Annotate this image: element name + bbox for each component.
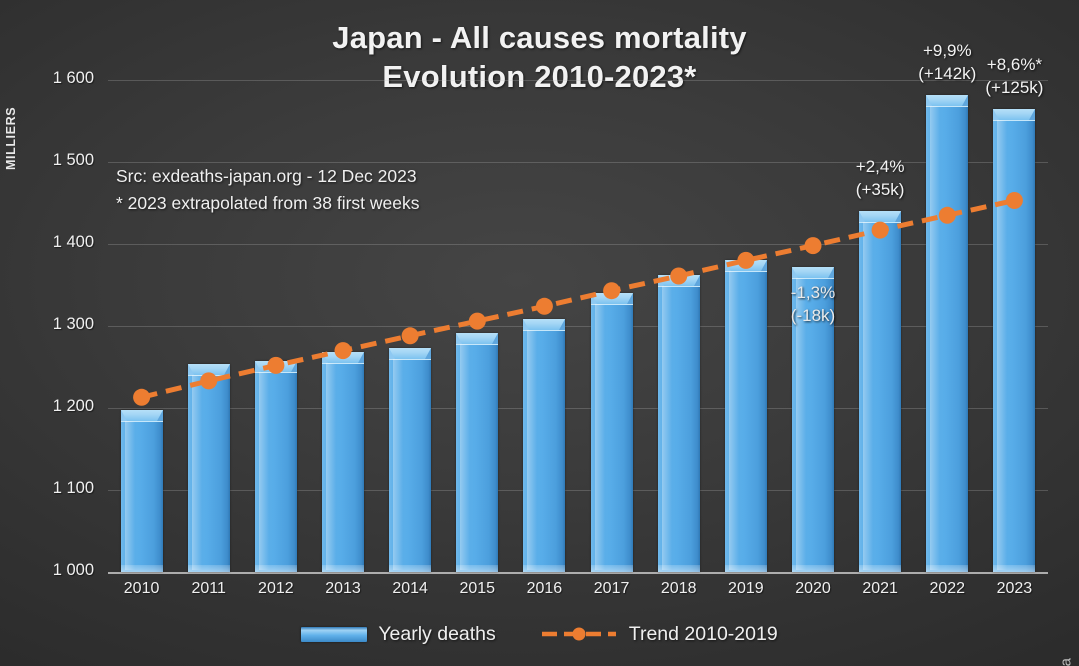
bar-2013[interactable] [322, 352, 364, 572]
bar-foot [926, 565, 968, 572]
bar-2014[interactable] [389, 348, 431, 572]
bar-cap-left [255, 361, 261, 372]
bar-foot [456, 565, 498, 572]
bar-foot [389, 565, 431, 572]
bar-cap-right [559, 319, 565, 330]
annotation-2021: +2,4%(+35k) [825, 155, 935, 201]
x-tick-label-2012: 2012 [242, 580, 309, 598]
legend-label-yearly-deaths: Yearly deaths [378, 623, 495, 646]
trend-marker-2014[interactable] [402, 327, 419, 344]
x-tick-label-2022: 2022 [914, 580, 981, 598]
x-tick-label-2020: 2020 [779, 580, 846, 598]
x-tick-label-2015: 2015 [444, 580, 511, 598]
x-tick-label-2021: 2021 [847, 580, 914, 598]
chart-canvas: Japan - All causes mortality Evolution 2… [0, 0, 1079, 666]
x-tick-label-2010: 2010 [108, 580, 175, 598]
bar-2021[interactable] [859, 211, 901, 572]
bar-sheen [192, 375, 202, 570]
bar-2017[interactable] [591, 293, 633, 572]
bar-foot [523, 565, 565, 572]
plot-area [108, 80, 1048, 572]
annotation-2023: +8,6%*(+125k) [959, 53, 1069, 99]
bar-cap-left [591, 293, 597, 304]
bar-sheen [259, 372, 269, 570]
annotation-absolute: (+125k) [959, 76, 1069, 99]
bar-cap-left [389, 348, 395, 359]
bar-foot [792, 565, 834, 572]
trend-marker-2020[interactable] [805, 237, 822, 254]
annotation-percent: +2,4% [825, 155, 935, 178]
bar-cap-right [1029, 109, 1035, 120]
bar-sheen [729, 271, 739, 570]
bar-foot [591, 565, 633, 572]
bar-cap-left [523, 319, 529, 330]
bar-cap-right [627, 293, 633, 304]
bar-2012[interactable] [255, 361, 297, 572]
watermark: @felicittina [1058, 658, 1075, 666]
gridline [108, 244, 1048, 245]
bar-cap-right [828, 267, 834, 278]
x-tick-label-2014: 2014 [377, 580, 444, 598]
annotation-percent: -1,3% [758, 281, 868, 304]
annotation-2020: -1,3%(-18k) [758, 281, 868, 327]
y-tick-label: 1 600 [4, 69, 94, 88]
bar-cap-left [792, 267, 798, 278]
bar-2011[interactable] [188, 364, 230, 572]
y-tick-label: 1 100 [4, 479, 94, 498]
bar-cap-right [425, 348, 431, 359]
y-tick-label: 1 200 [4, 397, 94, 416]
bar-foot [322, 565, 364, 572]
x-tick-label-2017: 2017 [578, 580, 645, 598]
bar-cap-right [358, 352, 364, 363]
bar-foot [993, 565, 1035, 572]
bar-2015[interactable] [456, 333, 498, 572]
x-tick-label-2019: 2019 [712, 580, 779, 598]
gridline [108, 572, 1048, 574]
annotation-absolute: (-18k) [758, 304, 868, 327]
bar-cap-left [322, 352, 328, 363]
y-tick-label: 1 300 [4, 315, 94, 334]
bar-cap-left [725, 260, 731, 271]
bar-cap-right [157, 410, 163, 421]
bar-cap-left [993, 109, 999, 120]
x-tick-label-2018: 2018 [645, 580, 712, 598]
x-tick-label-2013: 2013 [309, 580, 376, 598]
bar-foot [188, 565, 230, 572]
gridline [108, 326, 1048, 327]
legend-bar-swatch-icon [301, 627, 367, 642]
bar-sheen [863, 222, 873, 570]
bar-sheen [460, 344, 470, 570]
trend-marker-2016[interactable] [536, 298, 553, 315]
bar-cap-left [456, 333, 462, 344]
legend-item-trend[interactable]: Trend 2010-2019 [540, 623, 778, 646]
bar-cap-right [291, 361, 297, 372]
bar-cap-left [188, 364, 194, 375]
trend-marker-2010[interactable] [133, 389, 150, 406]
bar-cap-right [492, 333, 498, 344]
bar-2016[interactable] [523, 319, 565, 572]
gridline [108, 408, 1048, 409]
bar-sheen [527, 330, 537, 570]
bar-cap-right [224, 364, 230, 375]
y-tick-label: 1 500 [4, 151, 94, 170]
legend-label-trend: Trend 2010-2019 [629, 623, 778, 646]
y-tick-label: 1 000 [4, 561, 94, 580]
bar-sheen [997, 120, 1007, 570]
bar-cap-left [658, 275, 664, 286]
bar-foot [121, 565, 163, 572]
bar-foot [255, 565, 297, 572]
legend-line-swatch-icon [540, 626, 618, 642]
bar-foot [859, 565, 901, 572]
bar-cap-left [926, 95, 932, 106]
gridline [108, 490, 1048, 491]
x-tick-label-2023: 2023 [981, 580, 1048, 598]
bar-cap-left [859, 211, 865, 222]
bar-cap-right [761, 260, 767, 271]
annotation-absolute: (+35k) [825, 178, 935, 201]
bar-cap-left [121, 410, 127, 421]
bar-foot [658, 565, 700, 572]
bar-sheen [326, 363, 336, 570]
bar-sheen [595, 304, 605, 570]
bar-2010[interactable] [121, 410, 163, 572]
annotation-percent: +8,6%* [959, 53, 1069, 76]
bar-2018[interactable] [658, 275, 700, 572]
bar-foot [725, 565, 767, 572]
x-tick-label-2011: 2011 [175, 580, 242, 598]
trend-marker-2015[interactable] [469, 313, 486, 330]
chart-legend: Yearly deaths Trend 2010-2019 [0, 617, 1079, 651]
bar-2023[interactable] [993, 109, 1035, 572]
y-tick-label: 1 400 [4, 233, 94, 252]
bar-sheen [125, 421, 135, 570]
bar-cap-right [895, 211, 901, 222]
bar-sheen [393, 359, 403, 570]
bar-cap-right [694, 275, 700, 286]
bar-sheen [662, 286, 672, 570]
x-tick-label-2016: 2016 [511, 580, 578, 598]
legend-item-yearly-deaths[interactable]: Yearly deaths [301, 623, 495, 646]
